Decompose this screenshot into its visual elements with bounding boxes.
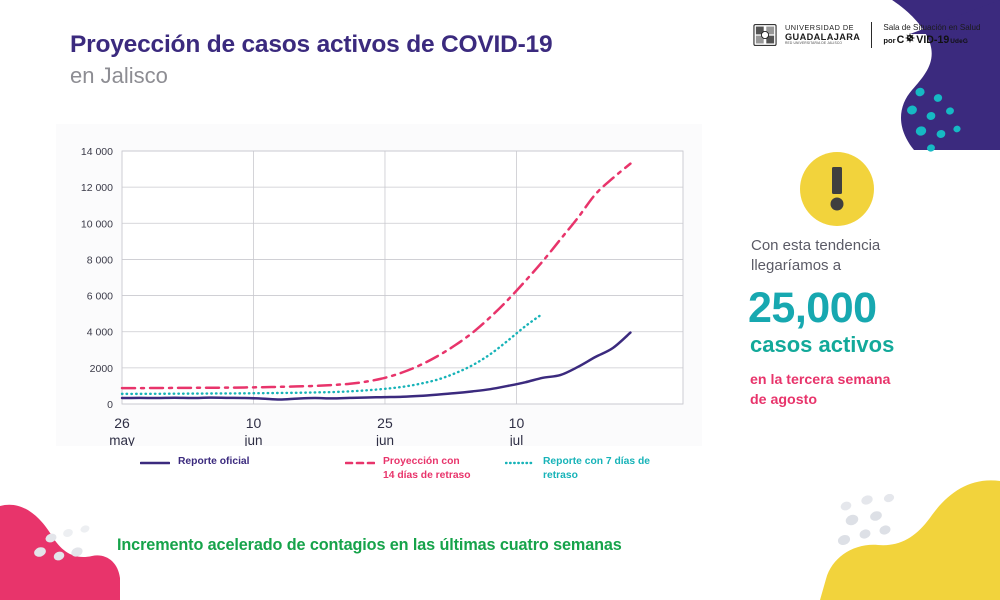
projected-cases-number: 25,000 — [748, 287, 877, 330]
y-tick-label: 14 000 — [81, 146, 113, 158]
footer-note: Incremento acelerado de contagios en las… — [117, 536, 622, 555]
university-line1: UNIVERSIDAD DE — [785, 24, 860, 32]
trend-lead-text: Con esta tendencia llegaríamos a — [751, 236, 951, 277]
pink-blob-dots — [30, 522, 100, 572]
sala-udeg: UdeG — [950, 38, 968, 46]
logo-divider — [871, 22, 872, 48]
y-tick-label: 12 000 — [81, 182, 113, 194]
yellow-blob-shape — [820, 475, 1000, 600]
x-tick-day: 10 — [509, 415, 525, 431]
sala-line2: por C VID-19 UdeG — [883, 33, 980, 47]
alert-badge — [800, 152, 874, 226]
legend-label-line1: Reporte con 7 días de — [543, 455, 650, 469]
y-tick-label: 0 — [107, 399, 113, 411]
trend-lead-line2: llegaríamos a — [751, 256, 951, 276]
legend-label-proyeccion-14dias: Proyección con 14 días de retraso — [383, 455, 471, 483]
legend-label-line1: Proyección con — [383, 455, 471, 469]
x-tick-month: may — [109, 433, 135, 446]
timeframe-line2: de agosto — [750, 390, 945, 410]
legend-label-reporte-oficial: Reporte oficial — [178, 455, 250, 469]
x-tick-day: 26 — [114, 415, 130, 431]
covid-projection-chart: 020004 0006 0008 00010 00012 00014 00026… — [56, 124, 702, 446]
legend-swatch-dotted-icon — [505, 460, 535, 466]
title-subtitle: en Jalisco — [70, 62, 690, 90]
sala-line1: Sala de Situación en Salud — [883, 23, 980, 33]
yellow-blob-dots — [832, 494, 912, 554]
x-tick-day: 25 — [377, 415, 393, 431]
projection-timeframe: en la tercera semana de agosto — [750, 370, 945, 410]
title-main: Proyección de casos activos de COVID-19 — [70, 30, 690, 60]
university-line3: RED UNIVERSITARIA DE JALISCO — [785, 42, 860, 46]
page-title: Proyección de casos activos de COVID-19 … — [70, 30, 690, 89]
pink-blob-shape — [0, 490, 120, 600]
projected-cases-label: casos activos — [750, 334, 894, 356]
y-tick-label: 4 000 — [87, 327, 113, 339]
legend-swatch-dashed-icon — [345, 460, 375, 466]
udg-crest-icon — [752, 22, 778, 48]
x-tick-month: jun — [375, 433, 394, 446]
y-tick-label: 6 000 — [87, 291, 113, 303]
x-tick-day: 10 — [246, 415, 262, 431]
logo-lockup: UNIVERSIDAD DE GUADALAJARA RED UNIVERSIT… — [752, 22, 981, 48]
exclamation-icon — [826, 166, 848, 212]
trend-lead-line1: Con esta tendencia — [751, 236, 951, 256]
legend-item-proyeccion-14dias: Proyección con 14 días de retraso — [345, 455, 471, 483]
virus-icon — [905, 33, 915, 43]
y-tick-label: 10 000 — [81, 218, 113, 230]
timeframe-line1: en la tercera semana — [750, 370, 945, 390]
legend-item-reporte-oficial: Reporte oficial — [140, 455, 250, 469]
chart-legend: Reporte oficial Proyección con 14 días d… — [140, 455, 700, 495]
university-name: UNIVERSIDAD DE GUADALAJARA RED UNIVERSIT… — [785, 24, 860, 46]
x-tick-month: jun — [243, 433, 262, 446]
legend-label-line2: retraso — [543, 469, 650, 483]
y-tick-label: 2000 — [90, 363, 114, 375]
y-tick-label: 8 000 — [87, 254, 113, 266]
legend-swatch-solid-icon — [140, 460, 170, 466]
legend-item-reporte-7dias: Reporte con 7 días de retraso — [505, 455, 650, 483]
sala-covid-post: VID-19 — [916, 34, 949, 47]
sala-prefix: por — [883, 36, 895, 45]
teal-dots-cluster — [900, 84, 970, 154]
legend-label-reporte-7dias: Reporte con 7 días de retraso — [543, 455, 650, 483]
x-tick-month: jul — [509, 433, 524, 446]
infographic-canvas: Proyección de casos activos de COVID-19 … — [0, 0, 1000, 600]
sala-brand: Sala de Situación en Salud por C VID-19 — [883, 23, 980, 46]
legend-label-line2: 14 días de retraso — [383, 469, 471, 483]
legend-label-line1: Reporte oficial — [178, 455, 250, 469]
sala-covid-pre: C — [897, 34, 905, 47]
